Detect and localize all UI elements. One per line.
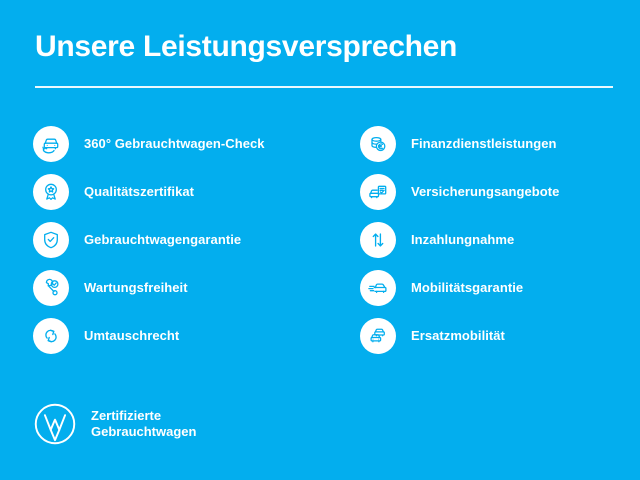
award-rosette-icon	[33, 174, 69, 210]
feature-item-maintenance-free[interactable]: Wartungsfreiheit	[33, 264, 320, 312]
exchange-arrows-icon	[33, 318, 69, 354]
features-right-column: Finanzdienstleistungen Versicherungsange…	[320, 120, 640, 360]
volkswagen-logo	[33, 402, 77, 446]
feature-item-exchange-right[interactable]: Umtauschrecht	[33, 312, 320, 360]
speeding-car-icon	[360, 270, 396, 306]
feature-label: Wartungsfreiheit	[84, 280, 188, 296]
feature-label: Finanzdienstleistungen	[411, 136, 557, 152]
shield-check-icon	[33, 222, 69, 258]
car-document-icon	[360, 174, 396, 210]
header: Unsere Leistungsversprechen	[35, 28, 613, 88]
feature-item-quality-certificate[interactable]: Qualitätszertifikat	[33, 168, 320, 216]
promo-poster: Unsere Leistungsversprechen	[0, 0, 640, 480]
feature-label: Ersatzmobilität	[411, 328, 505, 344]
brand-text-line1: Zertifizierte	[91, 408, 196, 424]
brand-text: Zertifizierte Gebrauchtwagen	[91, 408, 196, 440]
feature-item-replacement-mobility[interactable]: Ersatzmobilität	[360, 312, 640, 360]
feature-item-insurance-offers[interactable]: Versicherungsangebote	[360, 168, 640, 216]
feature-item-financial-services[interactable]: Finanzdienstleistungen	[360, 120, 640, 168]
feature-label: Mobilitätsgarantie	[411, 280, 523, 296]
header-divider	[35, 86, 613, 88]
feature-label: Inzahlungnahme	[411, 232, 514, 248]
feature-label: Gebrauchtwagengarantie	[84, 232, 241, 248]
wrench-check-icon	[33, 270, 69, 306]
features-left-column: 360° Gebrauchtwagen-Check Qualitätszerti…	[0, 120, 320, 360]
feature-item-trade-in[interactable]: Inzahlungnahme	[360, 216, 640, 264]
brand-text-line2: Gebrauchtwagen	[91, 424, 196, 440]
feature-item-360-check[interactable]: 360° Gebrauchtwagen-Check	[33, 120, 320, 168]
feature-label: Versicherungsangebote	[411, 184, 559, 200]
up-down-arrows-icon	[360, 222, 396, 258]
feature-label: Umtauschrecht	[84, 328, 179, 344]
feature-label: Qualitätszertifikat	[84, 184, 194, 200]
car-360-check-icon	[33, 126, 69, 162]
coins-euro-icon	[360, 126, 396, 162]
features-grid: 360° Gebrauchtwagen-Check Qualitätszerti…	[0, 120, 640, 360]
brand-lockup: Zertifizierte Gebrauchtwagen	[33, 402, 196, 446]
feature-item-mobility-guarantee[interactable]: Mobilitätsgarantie	[360, 264, 640, 312]
two-cars-icon	[360, 318, 396, 354]
feature-item-warranty[interactable]: Gebrauchtwagengarantie	[33, 216, 320, 264]
page-title: Unsere Leistungsversprechen	[35, 28, 613, 66]
feature-label: 360° Gebrauchtwagen-Check	[84, 136, 265, 152]
